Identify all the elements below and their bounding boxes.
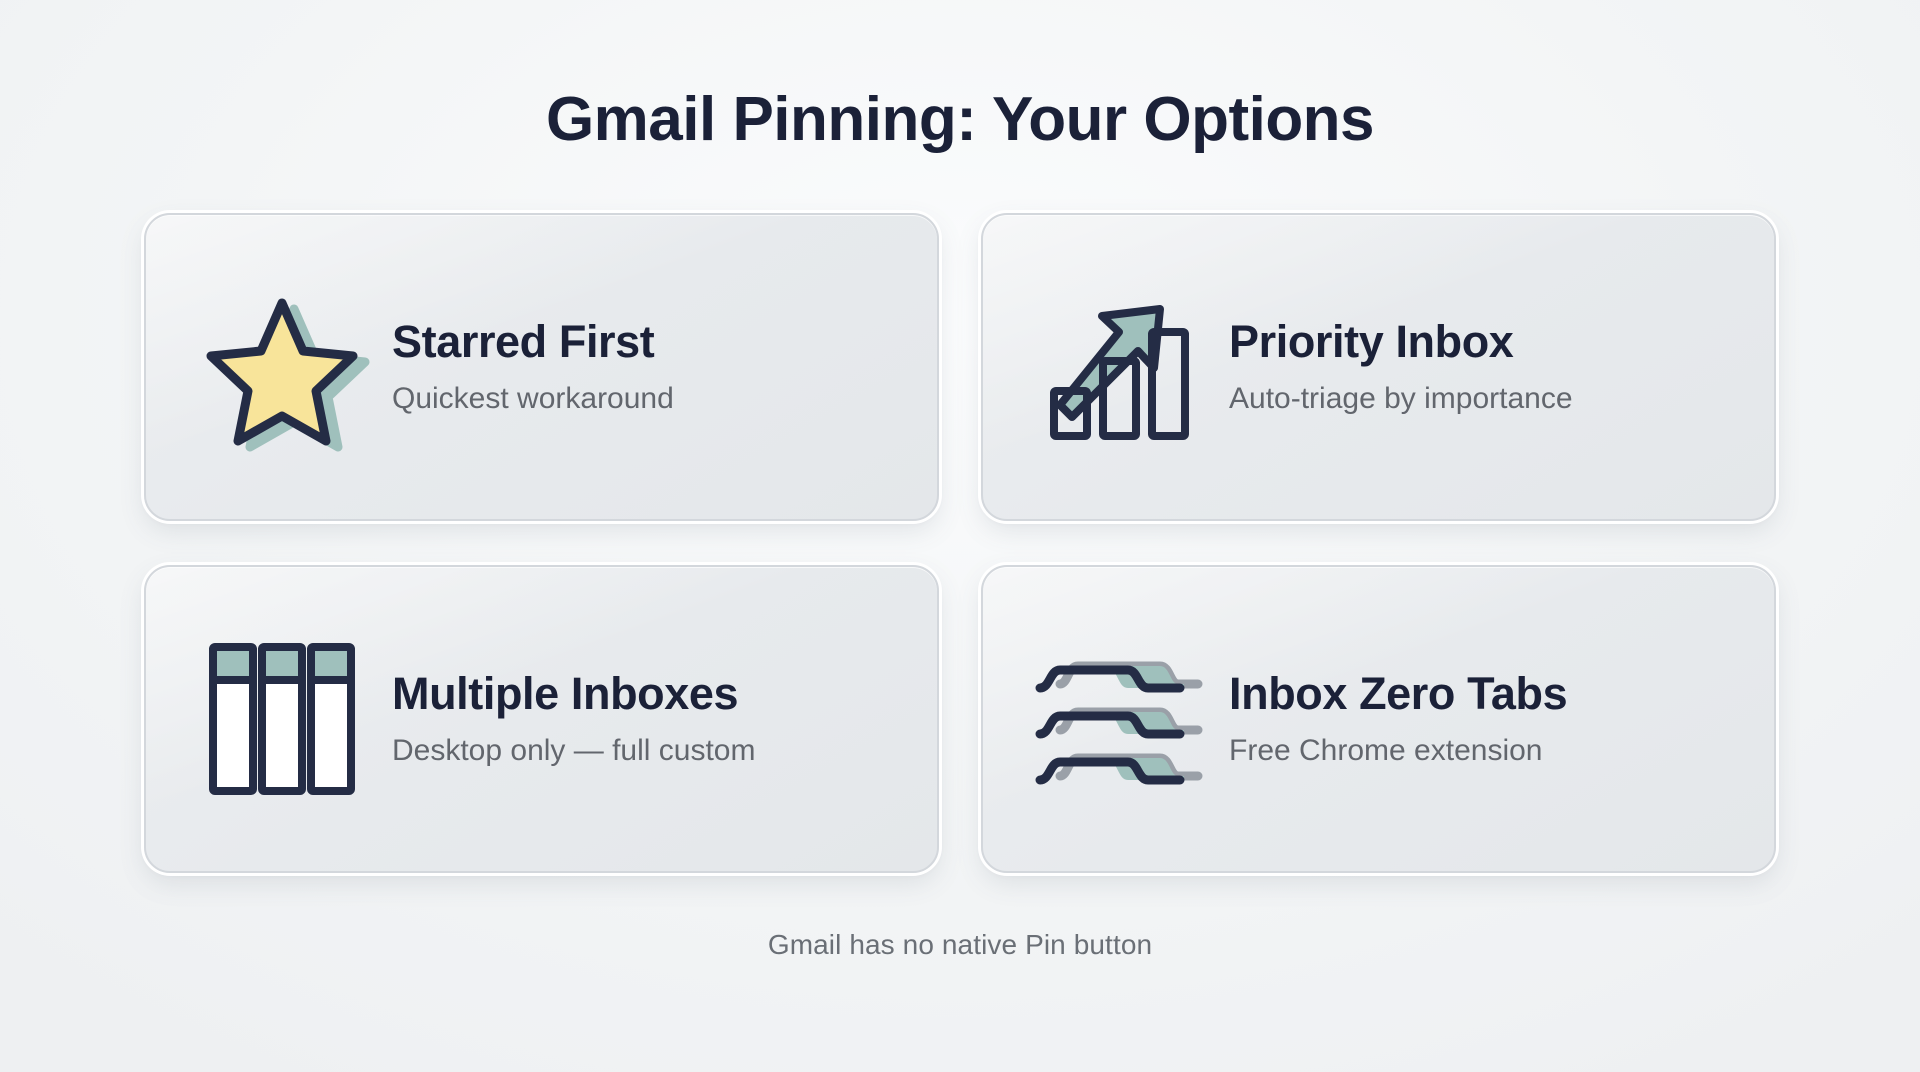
card-text-block: Starred First Quickest workaround	[392, 317, 674, 416]
card-subtitle: Desktop only — full custom	[392, 733, 755, 769]
multiple-columns-icon	[198, 635, 366, 803]
option-card-priority-inbox[interactable]: Priority Inbox Auto-triage by importance	[981, 213, 1776, 521]
option-card-inbox-zero-tabs[interactable]: Inbox Zero Tabs Free Chrome extension	[981, 565, 1776, 873]
options-card-grid: Starred First Quickest workaround Priori…	[144, 213, 1776, 873]
card-title: Priority Inbox	[1229, 317, 1573, 367]
option-card-multiple-inboxes[interactable]: Multiple Inboxes Desktop only — full cus…	[144, 565, 939, 873]
page-title: Gmail Pinning: Your Options	[546, 86, 1374, 154]
card-subtitle: Auto-triage by importance	[1229, 381, 1573, 417]
footer-note: Gmail has no native Pin button	[768, 929, 1152, 961]
infographic-page: Gmail Pinning: Your Options Starred Firs…	[0, 0, 1920, 1072]
card-text-block: Multiple Inboxes Desktop only — full cus…	[392, 669, 755, 768]
card-text-block: Inbox Zero Tabs Free Chrome extension	[1229, 669, 1567, 768]
card-subtitle: Quickest workaround	[392, 381, 674, 417]
card-subtitle: Free Chrome extension	[1229, 733, 1567, 769]
bar-chart-arrow-up-icon	[1035, 283, 1203, 451]
card-title: Starred First	[392, 317, 674, 367]
browser-tabs-icon	[1035, 635, 1203, 803]
star-icon	[198, 283, 366, 451]
card-title: Multiple Inboxes	[392, 669, 755, 719]
card-title: Inbox Zero Tabs	[1229, 669, 1567, 719]
option-card-starred-first[interactable]: Starred First Quickest workaround	[144, 213, 939, 521]
card-text-block: Priority Inbox Auto-triage by importance	[1229, 317, 1573, 416]
